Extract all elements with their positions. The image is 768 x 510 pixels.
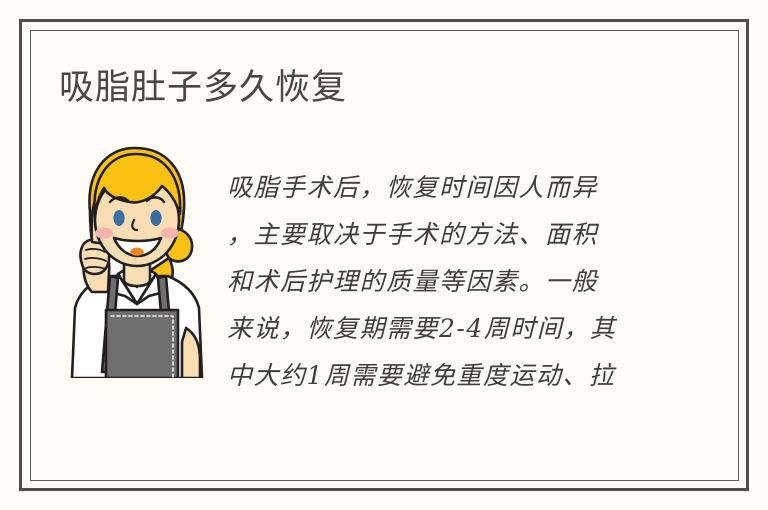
eye-right [150,210,161,226]
eye-left [113,210,124,226]
article-body: 吸脂手术后，恢复时间因人而异 ，主要取决于手术的方法、面积 和术后护理的质量等因… [227,164,651,399]
body-line-5: 中大约1周需要避免重度运动、拉 [227,352,651,399]
body-line-3: 和术后护理的质量等因素。一般 [227,258,651,305]
body-line-4: 来说，恢复期需要2-4周时间，其 [227,305,651,352]
illustration-cartoon-woman [62,142,212,378]
page-title: 吸脂肚子多久恢复 [59,66,347,110]
body-line-1: 吸脂手术后，恢复时间因人而异 [227,164,651,211]
body-line-2: ，主要取决于手术的方法、面积 [227,211,651,258]
apron-bib [106,310,178,378]
article-card: 吸脂肚子多久恢复 [0,0,768,510]
blush-left [95,228,113,239]
blush-right [161,228,179,239]
